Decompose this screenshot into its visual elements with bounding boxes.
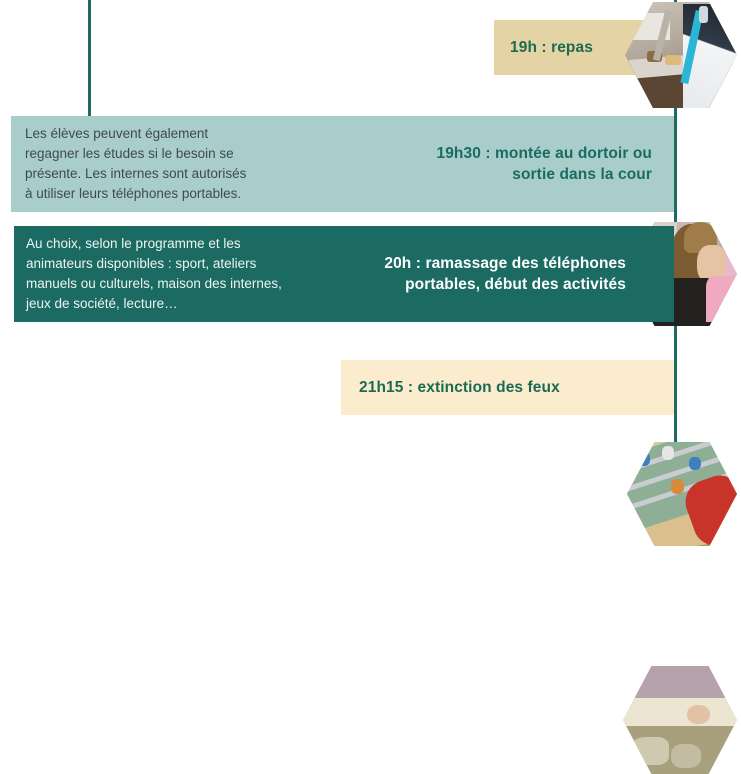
- timeline-entry-dortoir: Les élèves peuvent également regagner le…: [0, 110, 741, 220]
- timeline-label-band-activites: Au choix, selon le programme et les anim…: [14, 226, 674, 322]
- timeline-entry-repas: 19h : repas: [0, 0, 741, 110]
- photo-cantine-repas-art: [625, 2, 737, 108]
- timeline-label-band-extinction: 21h15 : extinction des feux: [341, 360, 674, 415]
- timeline-root: 19h : repas Les élèves peuvent également…: [0, 0, 741, 465]
- photo-enfant-endormi-art: [623, 666, 737, 774]
- timeline-time-label-repas: 19h : repas: [510, 37, 593, 58]
- timeline-label-band-dortoir: Les élèves peuvent également regagner le…: [11, 116, 674, 212]
- timeline-description-wrap-activites: Au choix, selon le programme et les anim…: [14, 234, 341, 314]
- timeline-time-label-dortoir: 19h30 : montée au dortoir ou sortie dans…: [436, 145, 652, 183]
- timeline-time-wrap-dortoir: 19h30 : montée au dortoir ou sortie dans…: [352, 143, 674, 185]
- timeline-entry-extinction: 21h15 : extinction des feux: [0, 330, 741, 465]
- timeline-description-wrap-dortoir: Les élèves peuvent également regagner le…: [11, 124, 325, 204]
- photo-cantine-repas: [625, 2, 737, 108]
- timeline-time-label-activites: 20h : ramassage des téléphones portables…: [384, 255, 626, 293]
- timeline-description-activites: Au choix, selon le programme et les anim…: [26, 236, 282, 311]
- timeline-time-label-extinction: 21h15 : extinction des feux: [359, 377, 560, 398]
- timeline-time-wrap-activites: 20h : ramassage des téléphones portables…: [341, 253, 674, 295]
- photo-enfant-endormi: [623, 666, 737, 774]
- timeline-entry-activites: Au choix, selon le programme et les anim…: [0, 220, 741, 330]
- timeline-description-dortoir: Les élèves peuvent également regagner le…: [25, 126, 246, 201]
